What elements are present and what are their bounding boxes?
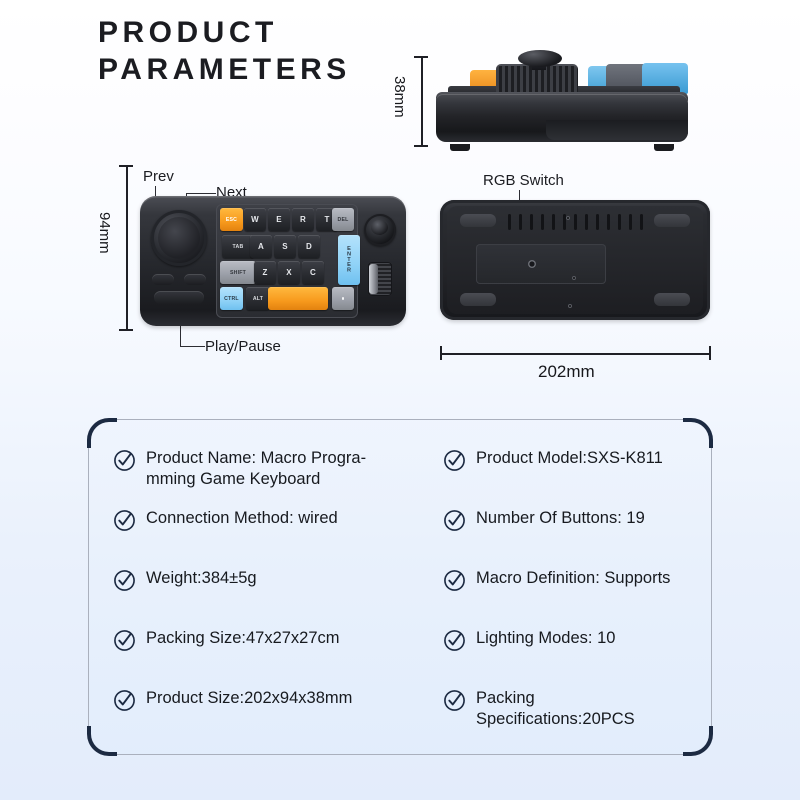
keycap-e[interactable]: E (268, 208, 290, 231)
spec-item-text: Weight:384±5g (146, 568, 257, 589)
keycap-w[interactable]: W (244, 208, 266, 231)
keyboard-back-view (440, 200, 710, 320)
check-circle-icon (113, 629, 136, 652)
back-label-panel (476, 244, 606, 284)
spec-item: Macro Definition: Supports (443, 568, 697, 592)
keycap-r[interactable]: R (292, 208, 314, 231)
specification-list: Product Name: Macro Progra-mming Game Ke… (113, 448, 697, 736)
check-circle-icon (113, 449, 136, 472)
next-button[interactable] (184, 274, 206, 285)
spec-item: Product Name: Macro Progra-mming Game Ke… (113, 448, 443, 490)
back-vent-slot (607, 214, 610, 230)
back-vent-slot (596, 214, 599, 230)
keycap-label: ENTER (346, 246, 352, 273)
back-vent-slot (574, 214, 577, 230)
keycap-label: TAB (233, 244, 244, 250)
dimension-line-height-38mm (421, 56, 423, 146)
spec-item: Weight:384±5g (113, 568, 443, 592)
callout-label-play-pause: Play/Pause (205, 338, 281, 355)
panel-corner-top-left (87, 418, 117, 448)
spec-item-text: Connection Method: wired (146, 508, 338, 529)
back-vent-slot (640, 214, 643, 230)
back-foot-bottom-right (654, 293, 690, 306)
scroll-wheel[interactable] (368, 262, 392, 296)
dimension-cap-top (414, 56, 428, 58)
keycap-c[interactable]: C (302, 261, 324, 284)
side-foot-right (654, 144, 674, 151)
back-vent-slot (552, 214, 555, 230)
spec-item: Packing Size:47x27x27cm (113, 628, 443, 652)
spec-item-text: Packing Size:47x27x27cm (146, 628, 340, 649)
spec-item: Lighting Modes: 10 (443, 628, 697, 652)
joystick[interactable] (364, 214, 396, 246)
back-vent-slot (585, 214, 588, 230)
dimension-line-width-202mm (440, 353, 710, 355)
keycap-label: Z (262, 268, 267, 277)
back-vent-slot (541, 214, 544, 230)
keycap-label: A (258, 242, 264, 251)
dimension-label-94mm: 94mm (96, 212, 113, 254)
keycap-label: W (251, 215, 259, 224)
keycap-label: T (324, 215, 329, 224)
rotary-dial[interactable] (151, 210, 207, 266)
keycap-label: S (282, 242, 288, 251)
keycap-shift[interactable]: SHIFT (220, 261, 256, 284)
check-circle-icon (443, 689, 466, 712)
dimension-cap-bottom (414, 145, 428, 147)
back-vent-slot (519, 214, 522, 230)
spec-item-text: Number Of Buttons: 19 (476, 508, 645, 529)
spec-item-text: Product Size:202x94x38mm (146, 688, 352, 709)
keycap-alt[interactable]: ALT (246, 287, 270, 310)
dimension-cap-bottom-94 (119, 329, 133, 331)
back-foot-top-right (654, 214, 690, 227)
keycap-s[interactable]: S (274, 235, 296, 258)
check-circle-icon (443, 509, 466, 532)
keycap-a[interactable]: A (250, 235, 272, 258)
spec-item: Number Of Buttons: 19 (443, 508, 697, 532)
spec-item-text: Packing Specifications:20PCS (476, 688, 697, 730)
callout-label-rgb-switch: RGB Switch (483, 172, 564, 189)
keycap-label: CTRL (224, 296, 239, 302)
keycap-enter[interactable]: ENTER (338, 235, 360, 285)
side-body-step (546, 120, 688, 140)
back-screw-top (566, 216, 570, 220)
keyboard-side-view (428, 48, 696, 153)
page-title: PRODUCT PARAMETERS (98, 14, 351, 88)
dimension-cap-left (440, 346, 442, 360)
keycap-label: E (276, 215, 282, 224)
keycap-z[interactable]: Z (254, 261, 276, 284)
keyboard-top-view: ESCWERTDELTABASDENTERSHIFTZXCCTRLALT (140, 196, 406, 326)
callout-label-prev: Prev (143, 168, 174, 185)
check-circle-icon (443, 569, 466, 592)
back-foot-bottom-left (460, 293, 496, 306)
check-circle-icon (443, 449, 466, 472)
back-vent-slot (629, 214, 632, 230)
keycap-space[interactable] (268, 287, 328, 310)
back-vent-slot (530, 214, 533, 230)
keycap-label: ALT (253, 296, 263, 302)
back-foot-top-left (460, 214, 496, 227)
keycap-ctrl[interactable]: CTRL (220, 287, 243, 310)
spec-item-text: Macro Definition: Supports (476, 568, 670, 589)
side-foot-left (450, 144, 470, 151)
product-parameters-infographic: PRODUCT PARAMETERS 38mm 94mm Prev (0, 0, 800, 800)
back-screw-upper (572, 276, 576, 280)
spec-item: Product Model:SXS-K811 (443, 448, 697, 472)
keycap-d[interactable]: D (298, 235, 320, 258)
check-circle-icon (113, 569, 136, 592)
keycap-dot[interactable] (332, 287, 354, 310)
keycap-del[interactable]: DEL (332, 208, 354, 231)
keycap-esc[interactable]: ESC (220, 208, 243, 231)
spec-item: Packing Specifications:20PCS (443, 688, 697, 730)
play-pause-button[interactable] (154, 291, 204, 304)
check-circle-icon (113, 509, 136, 532)
check-circle-icon (113, 689, 136, 712)
keycap-label: X (286, 268, 292, 277)
keycap-label: R (300, 215, 306, 224)
spec-item-text: Product Name: Macro Progra-mming Game Ke… (146, 448, 366, 490)
side-joystick-cap (518, 50, 562, 67)
spec-item: Connection Method: wired (113, 508, 443, 532)
dimension-cap-right (709, 346, 711, 360)
prev-button[interactable] (152, 274, 174, 285)
dimension-label-202mm: 202mm (538, 362, 595, 382)
keycap-x[interactable]: X (278, 261, 300, 284)
callout-leader-play-h (180, 346, 205, 347)
panel-corner-top-right (683, 418, 713, 448)
dimension-cap-top-94 (119, 165, 133, 167)
keycap-label: SHIFT (230, 270, 246, 276)
spec-item-text: Product Model:SXS-K811 (476, 448, 663, 469)
check-circle-icon (443, 629, 466, 652)
callout-leader-next-h (186, 193, 216, 194)
spec-item: Product Size:202x94x38mm (113, 688, 443, 712)
keycap-grid: ESCWERTDELTABASDENTERSHIFTZXCCTRLALT (220, 208, 354, 314)
keycap-label: C (310, 268, 316, 277)
rgb-switch-hole[interactable] (528, 260, 536, 268)
keycap-label: DEL (338, 217, 349, 223)
specifications-panel: Product Name: Macro Progra-mming Game Ke… (88, 419, 712, 755)
back-vent-slot (508, 214, 511, 230)
keycap-label: D (306, 242, 312, 251)
keycap-label: ESC (226, 217, 237, 223)
dimension-line-height-94mm (126, 165, 128, 330)
back-screw-bottom (568, 304, 572, 308)
spec-item-text: Lighting Modes: 10 (476, 628, 615, 649)
back-vent-slot (618, 214, 621, 230)
dimension-label-38mm: 38mm (391, 76, 408, 118)
